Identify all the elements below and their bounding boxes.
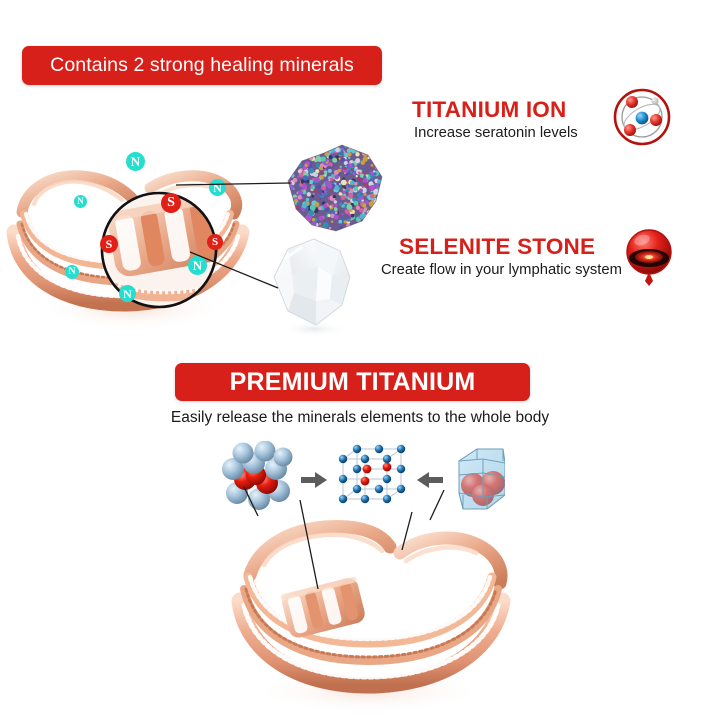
pole-marker-s-3: S bbox=[161, 193, 181, 213]
selenite-graphic bbox=[258, 231, 368, 341]
pole-marker-n-2: N bbox=[209, 179, 226, 196]
pole-marker-n-1: N bbox=[74, 195, 87, 208]
feature-subtitle: Create flow in your lymphatic system bbox=[381, 262, 622, 278]
premium-subtitle: Easily release the minerals elements to … bbox=[0, 409, 720, 427]
feature-titanium-ion: TITANIUM ION Increase seratonin levels bbox=[412, 97, 578, 141]
pole-marker-n-0: N bbox=[126, 152, 145, 171]
hexagonal-crystal-prism bbox=[459, 449, 505, 509]
infographic-page: Contains 2 strong healing minerals bbox=[0, 0, 720, 720]
premium-badge: PREMIUM TITANIUM bbox=[175, 363, 530, 401]
feature-title: TITANIUM ION bbox=[412, 97, 578, 123]
blood-cell-icon bbox=[623, 228, 675, 286]
atom-icon bbox=[611, 86, 673, 148]
pole-marker-n-8: N bbox=[119, 285, 136, 302]
headline-badge-label: Contains 2 strong healing minerals bbox=[50, 54, 354, 77]
pole-marker-s-5: S bbox=[207, 234, 223, 250]
pole-marker-n-7: N bbox=[65, 265, 79, 279]
feature-title: SELENITE STONE bbox=[399, 234, 622, 260]
druzy-graphic bbox=[276, 139, 394, 235]
atom-cluster-diagram bbox=[222, 441, 293, 510]
premium-badge-label: PREMIUM TITANIUM bbox=[230, 368, 476, 397]
arrow-left-icon bbox=[417, 472, 443, 488]
arrow-right-icon bbox=[301, 472, 327, 488]
feature-selenite-stone: SELENITE STONE Create flow in your lymph… bbox=[381, 234, 622, 278]
pole-marker-s-4: S bbox=[100, 235, 118, 253]
bottom-ring-illustration bbox=[192, 505, 542, 720]
pole-marker-n-6: N bbox=[188, 256, 207, 275]
ring-graphic bbox=[192, 505, 542, 720]
crystal-lattice-diagram bbox=[343, 449, 401, 499]
iridescent-titanium-druzy bbox=[276, 139, 394, 235]
white-selenite-crystal bbox=[258, 231, 368, 341]
feature-subtitle: Increase seratonin levels bbox=[414, 125, 578, 141]
headline-badge: Contains 2 strong healing minerals bbox=[22, 46, 382, 85]
